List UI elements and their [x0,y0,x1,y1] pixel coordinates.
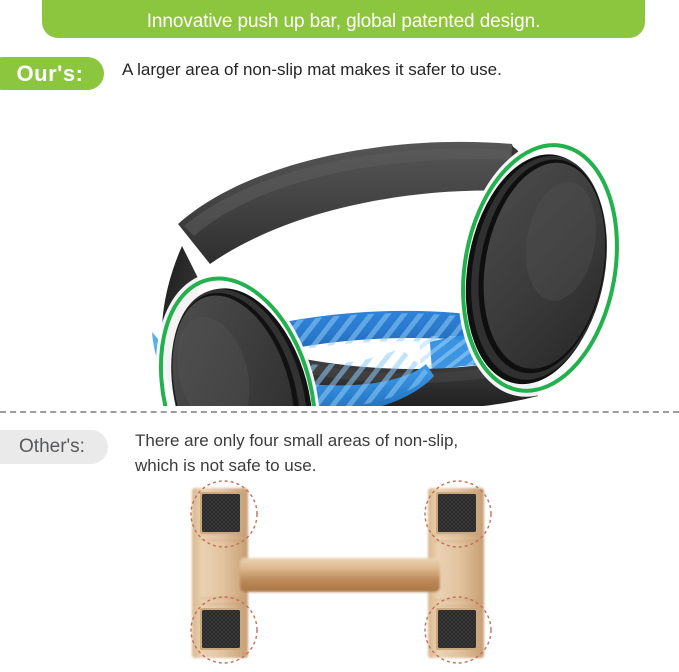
comparison-infographic: Innovative push up bar, global patented … [0,0,679,672]
ours-badge: Our's: [0,57,104,90]
headline-banner: Innovative push up bar, global patented … [42,0,645,38]
others-description-line-2: which is not safe to use. [135,453,458,478]
ours-heading-row: Our's: A larger area of non-slip mat mak… [0,57,679,93]
others-badge: Other's: [0,430,108,464]
others-description: There are only four small areas of non-s… [135,428,458,478]
ours-product-image [60,96,660,406]
section-divider [0,411,679,413]
others-badge-label: Other's: [19,436,85,458]
others-description-line-1: There are only four small areas of non-s… [135,428,458,453]
headline-banner-text: Innovative push up bar, global patented … [147,11,541,33]
others-product-image [170,480,510,672]
ours-badge-label: Our's: [17,61,84,87]
ours-description: A larger area of non-slip mat makes it s… [122,60,502,80]
